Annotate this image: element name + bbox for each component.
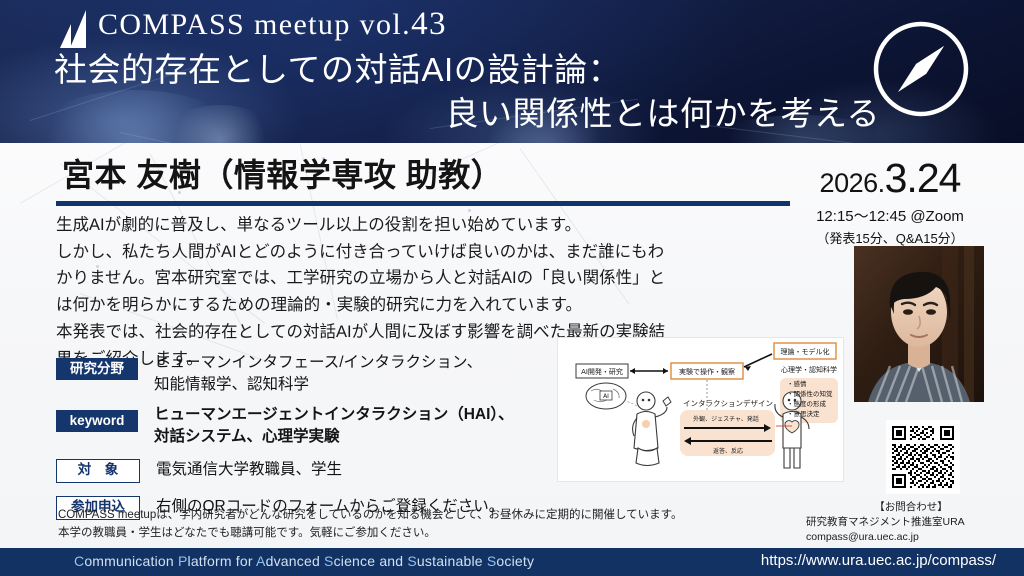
diagram-psych-heading: 心理学・認知科学 (781, 365, 837, 374)
diagram-psych-item: ・意思決定 (787, 409, 820, 418)
detail-row-audience: 対 象 電気通信大学教職員、学生 (56, 459, 576, 483)
event-day: 3.24 (885, 155, 961, 201)
diagram-label-interaction-design: インタラクションデザイン (683, 398, 773, 408)
poster-footer: Communication Platform for Advanced Scie… (0, 548, 1024, 576)
speaker-name: 宮本 友樹（情報学専攻 助教） (62, 150, 503, 196)
note-line: COMPASS meetupは、学内研究者がどんな研究をしているのかを知る機会と… (58, 507, 758, 525)
research-overview-diagram: AI開発・研究 実験で操作・観察 理論・モデル化 AI (557, 337, 844, 482)
value-line: ヒューマンインタフェース/インタラクション、 (154, 352, 482, 374)
page-title-line1: 社会的存在としての対話AIの設計論： (40, 48, 880, 92)
title-divider (56, 201, 790, 206)
speaker-portrait (854, 246, 984, 402)
diagram-psych-item: ・態度の形成 (787, 399, 827, 408)
abstract-line: 生成AIが劇的に普及し、単なるツール以上の役割を担い始めています。 (56, 212, 846, 239)
compass-sail-logo-icon (60, 10, 90, 50)
brand-title: COMPASS meetup vol.43 (98, 6, 447, 43)
value-keyword: ヒューマンエージェントインタラクション（HAI）、 対話システム、心理学実験 (154, 404, 514, 448)
diagram-arrow-forward-label: 外観、ジェスチャ、発話 (693, 415, 759, 423)
label-keyword: keyword (56, 410, 138, 432)
page-title-line2: 良い関係性とは何かを考える (40, 92, 880, 136)
brand-volume-number: 43 (411, 6, 447, 42)
contact-block: 【お問合わせ】 研究教育マネジメント推進室URA compass@ura.uec… (806, 500, 1016, 546)
diagram-psych-item: ・関係性の知覚 (787, 389, 833, 398)
diagram-arrow-backward-label: 返答、反応 (713, 447, 743, 455)
registration-qr-code[interactable] (886, 420, 960, 494)
value-line: ヒューマンエージェントインタラクション（HAI）、 (154, 404, 514, 426)
note-line: 本学の教職員・学生はどなたでも聴講可能です。気軽にご参加ください。 (58, 525, 758, 543)
contact-email: compass@ura.uec.ac.jp (806, 530, 1016, 545)
diagram-box-theory: 理論・モデル化 (781, 347, 830, 356)
value-audience: 電気通信大学教職員、学生 (156, 459, 342, 481)
event-date: 2026.3.24 (784, 158, 996, 199)
diagram-psych-item: ・感情 (787, 379, 807, 388)
abstract-line: しかし、私たち人間がAIとどのように付き合っていけば良いのかは、まだ誰にもわ (56, 239, 846, 266)
label-audience: 対 象 (56, 459, 140, 483)
diagram-box-ai-dev: AI開発・研究 (581, 367, 623, 376)
value-line: 知能情報学、認知科学 (154, 374, 482, 396)
detail-row-keyword: keyword ヒューマンエージェントインタラクション（HAI）、 対話システム… (56, 404, 576, 448)
abstract-line: かりません。宮本研究室では、工学研究の立場から人と対話AIの「良い関係性」と (56, 265, 846, 292)
poster-root: COMPASS meetup vol.43 社会的存在としての対話AIの設計論：… (0, 0, 1024, 576)
abstract-line: は何かを明らかにするための理論的・実験的研究に力を入れています。 (56, 292, 846, 319)
footer-tagline: Communication Platform for Advanced Scie… (74, 553, 534, 569)
footer-url[interactable]: https://www.ura.uec.ac.jp/compass/ (761, 552, 996, 569)
brand-title-text: COMPASS meetup vol. (98, 8, 411, 41)
label-research-field: 研究分野 (56, 358, 138, 380)
page-title: 社会的存在としての対話AIの設計論： 良い関係性とは何かを考える (40, 48, 880, 135)
detail-row-research-field: 研究分野 ヒューマンインタフェース/インタラクション、 知能情報学、認知科学 (56, 352, 576, 396)
value-research-field: ヒューマンインタフェース/インタラクション、 知能情報学、認知科学 (154, 352, 482, 396)
detail-rows: 研究分野 ヒューマンインタフェース/インタラクション、 知能情報学、認知科学 k… (56, 352, 576, 527)
poster-header: COMPASS meetup vol.43 社会的存在としての対話AIの設計論：… (0, 0, 1024, 143)
diagram-box-experiment: 実験で操作・観察 (679, 367, 735, 376)
diagram-brain-label: AI (603, 393, 609, 400)
contact-office: 研究教育マネジメント推進室URA (806, 515, 1016, 530)
value-line: 電気通信大学教職員、学生 (156, 459, 342, 481)
event-year: 2026. (820, 168, 885, 198)
contact-heading: 【お問合わせ】 (806, 500, 1016, 515)
event-note: COMPASS meetupは、学内研究者がどんな研究をしているのかを知る機会と… (58, 507, 758, 543)
compass-needle-icon (870, 18, 972, 120)
value-line: 対話システム、心理学実験 (154, 426, 514, 448)
